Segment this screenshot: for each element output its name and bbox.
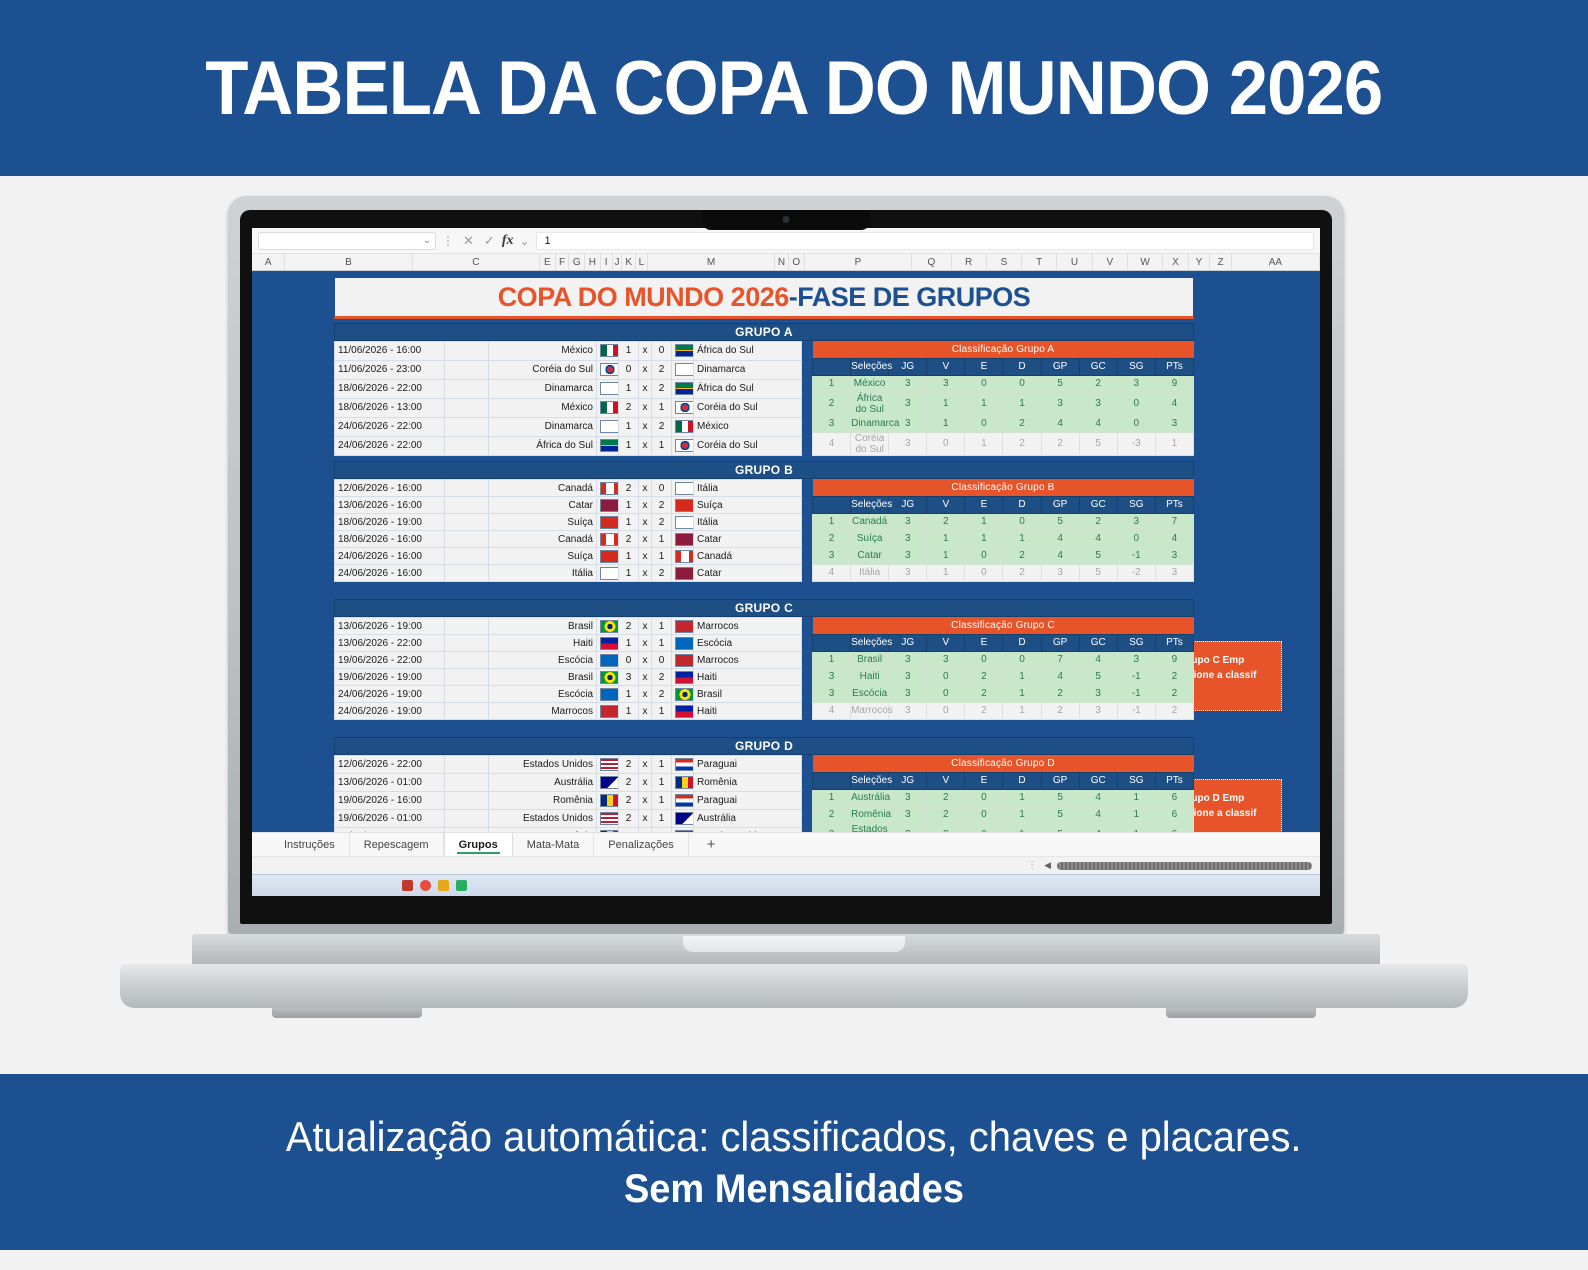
standings-v: 2 xyxy=(927,823,965,832)
rank-header xyxy=(813,634,851,651)
column-header-seleções: Seleções xyxy=(851,634,889,651)
away-score-input[interactable]: 1 xyxy=(652,618,672,635)
column-header-d: D xyxy=(1003,634,1041,651)
taskbar-icon-1[interactable] xyxy=(402,880,413,891)
taskbar-icon-3[interactable] xyxy=(438,880,449,891)
home-flag-cell xyxy=(597,360,619,379)
standings-d: 0 xyxy=(1003,375,1041,392)
standings-pts: 3 xyxy=(1155,564,1193,581)
away-team-name: Canadá xyxy=(694,548,802,565)
standings-gc: 2 xyxy=(1079,375,1117,392)
match-row: 24/06/2026 - 19:00Escócia1x2Brasil xyxy=(335,686,802,703)
standings-jg: 3 xyxy=(889,651,927,668)
home-score-input[interactable]: 1 xyxy=(619,514,639,531)
away-score-input[interactable]: 1 xyxy=(652,774,672,792)
score-separator: x xyxy=(639,686,652,703)
away-team-name: Austrália xyxy=(694,810,802,828)
column-header-gc: GC xyxy=(1079,496,1117,513)
standings-jg: 3 xyxy=(889,432,927,455)
spacer-cell xyxy=(445,436,489,455)
match-datetime: 25/06/2026 - 23:00 xyxy=(335,828,445,832)
laptop-foot-right xyxy=(1166,1008,1316,1018)
away-team-name: Romênia xyxy=(694,774,802,792)
away-score-input[interactable]: 2 xyxy=(652,379,672,398)
flag-icon-us xyxy=(600,812,619,825)
os-taskbar xyxy=(252,874,1320,896)
home-score-input[interactable]: 2 xyxy=(619,398,639,417)
standings-pts: 6 xyxy=(1155,789,1193,806)
spacer-cell xyxy=(445,514,489,531)
column-header-H[interactable]: H xyxy=(585,254,601,270)
standings-e: 0 xyxy=(965,547,1003,564)
away-score-input[interactable]: 1 xyxy=(652,792,672,810)
away-score-input[interactable]: 1 xyxy=(652,398,672,417)
match-row: 19/06/2026 - 01:00Estados Unidos2x1Austr… xyxy=(335,810,802,828)
column-header-O[interactable]: O xyxy=(789,254,805,270)
standings-e: 1 xyxy=(965,530,1003,547)
column-header-G[interactable]: G xyxy=(569,254,585,270)
home-score-input[interactable]: 0 xyxy=(619,360,639,379)
standings-pts: 2 xyxy=(1155,685,1193,702)
column-header-R[interactable]: R xyxy=(952,254,987,270)
standings-sg: 0 xyxy=(1117,392,1155,415)
flag-icon-py xyxy=(675,758,694,771)
home-score-input[interactable]: 2 xyxy=(619,531,639,548)
standings-gc: 4 xyxy=(1079,530,1117,547)
standings-e: 0 xyxy=(965,806,1003,823)
standings-pts: 1 xyxy=(1155,432,1193,455)
standings-row: 1México33005239 xyxy=(813,375,1194,392)
taskbar-icon-4[interactable] xyxy=(456,880,467,891)
column-header-F[interactable]: F xyxy=(556,254,570,270)
match-datetime: 13/06/2026 - 19:00 xyxy=(335,618,445,635)
match-row: 18/06/2026 - 22:00Dinamarca1x2África do … xyxy=(335,379,802,398)
sheet-tab-penalizações[interactable]: Penalizações xyxy=(594,833,688,856)
rank-header xyxy=(813,772,851,789)
standings-team: Escócia xyxy=(851,685,889,702)
column-headers[interactable]: ABCEFGHIJKLMNOPQRSTUVWXYZAA xyxy=(252,254,1320,271)
footer-line-1: Atualização automática: classificados, c… xyxy=(286,1113,1302,1161)
standings-rank: 3 xyxy=(813,415,851,432)
classification-wrapper: Classificação Grupo DSeleçõesJGVEDGPGCSG… xyxy=(812,755,1194,832)
standings-e: 0 xyxy=(965,651,1003,668)
group-block-grupo-d: GRUPO D12/06/2026 - 22:00Estados Unidos2… xyxy=(334,737,1194,832)
add-sheet-button[interactable]: + xyxy=(689,833,734,856)
away-score-input[interactable]: 0 xyxy=(652,652,672,669)
away-score-input[interactable]: 1 xyxy=(652,548,672,565)
home-score-input[interactable]: 2 xyxy=(619,828,639,832)
standings-gp: 2 xyxy=(1041,685,1079,702)
standings-jg: 3 xyxy=(889,547,927,564)
webcam-icon xyxy=(783,216,790,223)
standings-jg: 3 xyxy=(889,392,927,415)
column-header-e: E xyxy=(965,496,1003,513)
home-flag-cell xyxy=(597,531,619,548)
flag-icon-ma xyxy=(675,654,694,667)
home-flag-cell xyxy=(597,618,619,635)
standings-gp: 5 xyxy=(1041,806,1079,823)
away-team-name: Dinamarca xyxy=(694,360,802,379)
standings-sg: -1 xyxy=(1117,685,1155,702)
away-score-input[interactable]: 2 xyxy=(652,514,672,531)
flag-icon-ca xyxy=(600,482,619,495)
worksheet-grid: COPA DO MUNDO 2026 - FASE DE GRUPOS GRUP… xyxy=(252,271,1320,832)
match-row: 12/06/2026 - 16:00Canadá2x0Itália xyxy=(335,480,802,497)
sheet-tab-bar[interactable]: InstruçõesRepescagemGruposMata-MataPenal… xyxy=(252,832,1320,856)
away-team-name: Marrocos xyxy=(694,618,802,635)
cancel-icon[interactable]: ✕ xyxy=(460,233,477,249)
home-team-name: Estados Unidos xyxy=(489,810,597,828)
standings-d: 2 xyxy=(1003,415,1041,432)
flag-icon-ro xyxy=(600,794,619,807)
home-flag-cell xyxy=(597,810,619,828)
sheet-tab-repescagem[interactable]: Repescagem xyxy=(350,833,444,856)
away-score-input[interactable]: 1 xyxy=(652,828,672,832)
match-datetime: 11/06/2026 - 23:00 xyxy=(335,360,445,379)
spacer-cell xyxy=(445,756,489,774)
standings-gp: 2 xyxy=(1041,432,1079,455)
classification-header-row: SeleçõesJGVEDGPGCSGPTs xyxy=(813,358,1194,375)
laptop-lid: ⌄ ⋮ ✕ ✓ fx ⌄ 1 ABCEFGHIJKLMNOPQRSTUVWXYZ… xyxy=(228,196,1344,936)
away-score-input[interactable]: 1 xyxy=(652,703,672,720)
away-team-name: Itália xyxy=(694,480,802,497)
score-separator: x xyxy=(639,635,652,652)
column-header-pts: PTs xyxy=(1155,634,1193,651)
column-header-U[interactable]: U xyxy=(1057,254,1092,270)
column-header-gp: GP xyxy=(1041,358,1079,375)
away-score-input[interactable]: 2 xyxy=(652,565,672,582)
home-score-input[interactable]: 1 xyxy=(619,686,639,703)
laptop-notch-cut xyxy=(683,936,905,952)
sheet-tab-mata-mata[interactable]: Mata-Mata xyxy=(513,833,595,856)
column-header-v: V xyxy=(927,358,965,375)
standings-rank: 3 xyxy=(813,685,851,702)
standings-rank: 1 xyxy=(813,651,851,668)
home-team-name: Suíça xyxy=(489,548,597,565)
column-header-X[interactable]: X xyxy=(1163,254,1188,270)
standings-gc: 4 xyxy=(1079,806,1117,823)
standings-team: Catar xyxy=(851,547,889,564)
column-header-seleções: Seleções xyxy=(851,772,889,789)
away-score-input[interactable]: 1 xyxy=(652,531,672,548)
column-header-J[interactable]: J xyxy=(613,254,623,270)
home-score-input[interactable]: 2 xyxy=(619,810,639,828)
column-header-v: V xyxy=(927,772,965,789)
away-flag-cell xyxy=(672,497,694,514)
horizontal-scrollbar[interactable] xyxy=(1057,862,1312,870)
standings-gp: 5 xyxy=(1041,375,1079,392)
away-flag-cell xyxy=(672,565,694,582)
column-header-V[interactable]: V xyxy=(1093,254,1128,270)
standings-pts: 2 xyxy=(1155,668,1193,685)
home-score-input[interactable]: 1 xyxy=(619,565,639,582)
column-header-gp: GP xyxy=(1041,772,1079,789)
standings-e: 0 xyxy=(965,789,1003,806)
spacer-cell xyxy=(445,531,489,548)
away-flag-cell xyxy=(672,398,694,417)
column-header-Y[interactable]: Y xyxy=(1189,254,1211,270)
away-score-input[interactable]: 2 xyxy=(652,669,672,686)
home-score-input[interactable]: 1 xyxy=(619,703,639,720)
chevron-down-icon[interactable]: ⌄ xyxy=(423,235,431,246)
standings-team: Brasil xyxy=(851,651,889,668)
away-team-name: Haiti xyxy=(694,669,802,686)
standings-v: 0 xyxy=(927,702,965,719)
standings-v: 1 xyxy=(927,530,965,547)
away-flag-cell xyxy=(672,548,694,565)
standings-pts: 4 xyxy=(1155,392,1193,415)
match-row: 19/06/2026 - 19:00Brasil3x2Haiti xyxy=(335,669,802,686)
column-header-d: D xyxy=(1003,772,1041,789)
sheet-tab-instruções[interactable]: Instruções xyxy=(270,833,350,856)
column-header-I[interactable]: I xyxy=(601,254,613,270)
standings-row: 3Haiti302145-12 xyxy=(813,668,1194,685)
column-header-M[interactable]: M xyxy=(648,254,775,270)
column-header-C[interactable]: C xyxy=(413,254,540,270)
worksheet-title-sep: - xyxy=(789,282,798,313)
flag-icon-ro xyxy=(600,830,619,832)
standings-v: 2 xyxy=(927,513,965,530)
standings-d: 1 xyxy=(1003,530,1041,547)
column-header-sg: SG xyxy=(1117,772,1155,789)
standings-v: 0 xyxy=(927,668,965,685)
name-box[interactable]: ⌄ xyxy=(258,232,436,250)
column-header-sg: SG xyxy=(1117,496,1155,513)
spacer-cell xyxy=(445,828,489,832)
home-flag-cell xyxy=(597,774,619,792)
home-score-input[interactable]: 2 xyxy=(619,480,639,497)
home-score-input[interactable]: 1 xyxy=(619,635,639,652)
home-team-name: Canadá xyxy=(489,480,597,497)
fx-icon[interactable]: fx xyxy=(502,233,514,249)
match-datetime: 24/06/2026 - 19:00 xyxy=(335,686,445,703)
away-score-input[interactable]: 2 xyxy=(652,417,672,436)
standings-sg: 1 xyxy=(1117,806,1155,823)
home-team-name: México xyxy=(489,342,597,361)
sheet-tab-grupos[interactable]: Grupos xyxy=(444,833,513,856)
home-score-input[interactable]: 0 xyxy=(619,652,639,669)
match-datetime: 19/06/2026 - 22:00 xyxy=(335,652,445,669)
standings-gp: 4 xyxy=(1041,668,1079,685)
home-flag-cell xyxy=(597,635,619,652)
taskbar-icon-2[interactable] xyxy=(420,880,431,891)
column-header-v: V xyxy=(927,496,965,513)
column-header-v: V xyxy=(927,634,965,651)
away-score-input[interactable]: 0 xyxy=(652,480,672,497)
rank-header xyxy=(813,358,851,375)
column-header-S[interactable]: S xyxy=(987,254,1022,270)
classification-wrapper: Classificação Grupo CSeleçõesJGVEDGPGCSG… xyxy=(812,617,1194,720)
match-row: 25/06/2026 - 23:00Romênia2x1Estados Unid… xyxy=(335,828,802,832)
standings-sg: 0 xyxy=(1117,530,1155,547)
standings-row: 1Canadá32105237 xyxy=(813,513,1194,530)
column-header-jg: JG xyxy=(889,358,927,375)
worksheet-title-part1: COPA DO MUNDO 2026 xyxy=(498,282,789,313)
column-header-T[interactable]: T xyxy=(1022,254,1057,270)
worksheet-title-part2: FASE DE GRUPOS xyxy=(797,282,1030,313)
page-title: TABELA DA COPA DO MUNDO 2026 xyxy=(206,45,1383,132)
standings-gc: 2 xyxy=(1079,513,1117,530)
home-score-input[interactable]: 3 xyxy=(619,669,639,686)
standings-e: 0 xyxy=(965,375,1003,392)
standings-e: 2 xyxy=(965,685,1003,702)
away-score-input[interactable]: 1 xyxy=(652,436,672,455)
standings-sg: -2 xyxy=(1117,564,1155,581)
match-row: 13/06/2026 - 22:00Haiti1x1Escócia xyxy=(335,635,802,652)
standings-rank: 2 xyxy=(813,806,851,823)
flag-icon-ch xyxy=(675,499,694,512)
group-block-grupo-b: GRUPO B12/06/2026 - 16:00Canadá2x0Itália… xyxy=(334,461,1194,582)
match-datetime: 19/06/2026 - 01:00 xyxy=(335,810,445,828)
standings-e: 1 xyxy=(965,392,1003,415)
standings-gp: 4 xyxy=(1041,547,1079,564)
standings-sg: -3 xyxy=(1117,432,1155,455)
group-body: 12/06/2026 - 16:00Canadá2x0Itália13/06/2… xyxy=(334,479,1194,582)
away-score-input[interactable]: 0 xyxy=(652,342,672,361)
standings-gc: 3 xyxy=(1079,392,1117,415)
column-header-K[interactable]: K xyxy=(622,254,636,270)
away-flag-cell xyxy=(672,828,694,832)
standings-row: 1Austrália32015416 xyxy=(813,789,1194,806)
away-flag-cell xyxy=(672,635,694,652)
standings-d: 0 xyxy=(1003,651,1041,668)
more-vertical-icon[interactable]: ⋮ xyxy=(440,234,456,248)
home-team-name: México xyxy=(489,398,597,417)
standings-pts: 9 xyxy=(1155,375,1193,392)
column-header-d: D xyxy=(1003,496,1041,513)
home-flag-cell xyxy=(597,828,619,832)
column-header-pts: PTs xyxy=(1155,358,1193,375)
spacer-cell xyxy=(445,342,489,361)
flag-icon-ht xyxy=(675,705,694,718)
standings-team: Romênia xyxy=(851,806,889,823)
home-flag-cell xyxy=(597,497,619,514)
column-header-e: E xyxy=(965,358,1003,375)
flag-icon-sc xyxy=(600,688,619,701)
standings-v: 3 xyxy=(927,651,965,668)
flag-icon-it xyxy=(600,567,619,580)
away-score-input[interactable]: 2 xyxy=(652,686,672,703)
standings-team: Itália xyxy=(851,564,889,581)
away-flag-cell xyxy=(672,792,694,810)
standings-sg: -1 xyxy=(1117,547,1155,564)
standings-v: 1 xyxy=(927,564,965,581)
home-score-input[interactable]: 2 xyxy=(619,774,639,792)
column-header-gc: GC xyxy=(1079,772,1117,789)
scroll-grip-icon[interactable]: ⋮ xyxy=(1027,860,1038,871)
away-score-input[interactable]: 2 xyxy=(652,497,672,514)
standings-gc: 5 xyxy=(1079,547,1117,564)
match-datetime: 12/06/2026 - 22:00 xyxy=(335,756,445,774)
home-score-input[interactable]: 1 xyxy=(619,342,639,361)
standings-row: 3Catar310245-13 xyxy=(813,547,1194,564)
standings-sg: 1 xyxy=(1117,789,1155,806)
standings-gc: 3 xyxy=(1079,702,1117,719)
standings-jg: 3 xyxy=(889,685,927,702)
column-header-Q[interactable]: Q xyxy=(912,254,951,270)
home-score-input[interactable]: 1 xyxy=(619,548,639,565)
home-flag-cell xyxy=(597,686,619,703)
home-team-name: Canadá xyxy=(489,531,597,548)
home-score-input[interactable]: 1 xyxy=(619,379,639,398)
standings-sg: 1 xyxy=(1117,823,1155,832)
away-team-name: Haiti xyxy=(694,703,802,720)
standings-v: 1 xyxy=(927,547,965,564)
column-header-AA[interactable]: AA xyxy=(1232,254,1320,270)
column-header-L[interactable]: L xyxy=(636,254,648,270)
column-header-P[interactable]: P xyxy=(805,254,913,270)
spacer-cell xyxy=(445,669,489,686)
flag-icon-ca xyxy=(600,533,619,546)
standings-row: 2Romênia32015416 xyxy=(813,806,1194,823)
away-score-input[interactable]: 1 xyxy=(652,810,672,828)
flag-icon-mx xyxy=(600,344,619,357)
column-header-e: E xyxy=(965,772,1003,789)
home-team-name: África do Sul xyxy=(489,436,597,455)
column-header-W[interactable]: W xyxy=(1128,254,1163,270)
standings-gc: 4 xyxy=(1079,823,1117,832)
standings-pts: 3 xyxy=(1155,415,1193,432)
away-team-name: Paraguai xyxy=(694,792,802,810)
home-score-input[interactable]: 1 xyxy=(619,417,639,436)
home-score-input[interactable]: 2 xyxy=(619,756,639,774)
column-header-A[interactable]: A xyxy=(252,254,285,270)
away-score-input[interactable]: 1 xyxy=(652,635,672,652)
away-flag-cell xyxy=(672,618,694,635)
home-score-input[interactable]: 2 xyxy=(619,618,639,635)
standings-gc: 5 xyxy=(1079,668,1117,685)
matches-table: 11/06/2026 - 16:00México1x0África do Sul… xyxy=(334,341,802,456)
classification-table: Classificação Grupo BSeleçõesJGVEDGPGCSG… xyxy=(812,479,1194,582)
standings-gp: 3 xyxy=(1041,392,1079,415)
column-header-B[interactable]: B xyxy=(285,254,412,270)
standings-team: Marrocos xyxy=(851,702,889,719)
away-flag-cell xyxy=(672,756,694,774)
home-score-input[interactable]: 1 xyxy=(619,497,639,514)
laptop-stage: ⌄ ⋮ ✕ ✓ fx ⌄ 1 ABCEFGHIJKLMNOPQRSTUVWXYZ… xyxy=(0,176,1588,1074)
laptop-foot-left xyxy=(272,1008,422,1018)
column-header-E[interactable]: E xyxy=(540,254,556,270)
match-datetime: 24/06/2026 - 16:00 xyxy=(335,565,445,582)
home-score-input[interactable]: 1 xyxy=(619,436,639,455)
standings-sg: 3 xyxy=(1117,651,1155,668)
scroll-left-arrow-icon[interactable]: ◀ xyxy=(1044,860,1051,871)
standings-jg: 3 xyxy=(889,806,927,823)
flag-icon-it xyxy=(675,516,694,529)
formula-input[interactable]: 1 xyxy=(536,232,1314,250)
flag-icon-kr xyxy=(675,401,694,414)
formula-chevron-icon[interactable]: ⌄ xyxy=(517,234,531,248)
standings-pts: 6 xyxy=(1155,823,1193,832)
standings-gc: 4 xyxy=(1079,415,1117,432)
match-datetime: 13/06/2026 - 16:00 xyxy=(335,497,445,514)
away-score-input[interactable]: 1 xyxy=(652,756,672,774)
away-score-input[interactable]: 2 xyxy=(652,360,672,379)
spacer-cell xyxy=(445,635,489,652)
standings-rank: 4 xyxy=(813,432,851,455)
classification-title: Classificação Grupo D xyxy=(813,755,1194,772)
spacer-cell xyxy=(445,548,489,565)
column-header-N[interactable]: N xyxy=(775,254,789,270)
home-flag-cell xyxy=(597,792,619,810)
standings-rank: 4 xyxy=(813,702,851,719)
confirm-icon[interactable]: ✓ xyxy=(481,233,498,249)
away-flag-cell xyxy=(672,669,694,686)
home-score-input[interactable]: 2 xyxy=(619,792,639,810)
away-team-name: Suíça xyxy=(694,497,802,514)
column-header-Z[interactable]: Z xyxy=(1210,254,1232,270)
horizontal-scrollbar-row[interactable]: ⋮ ◀ xyxy=(252,856,1320,874)
